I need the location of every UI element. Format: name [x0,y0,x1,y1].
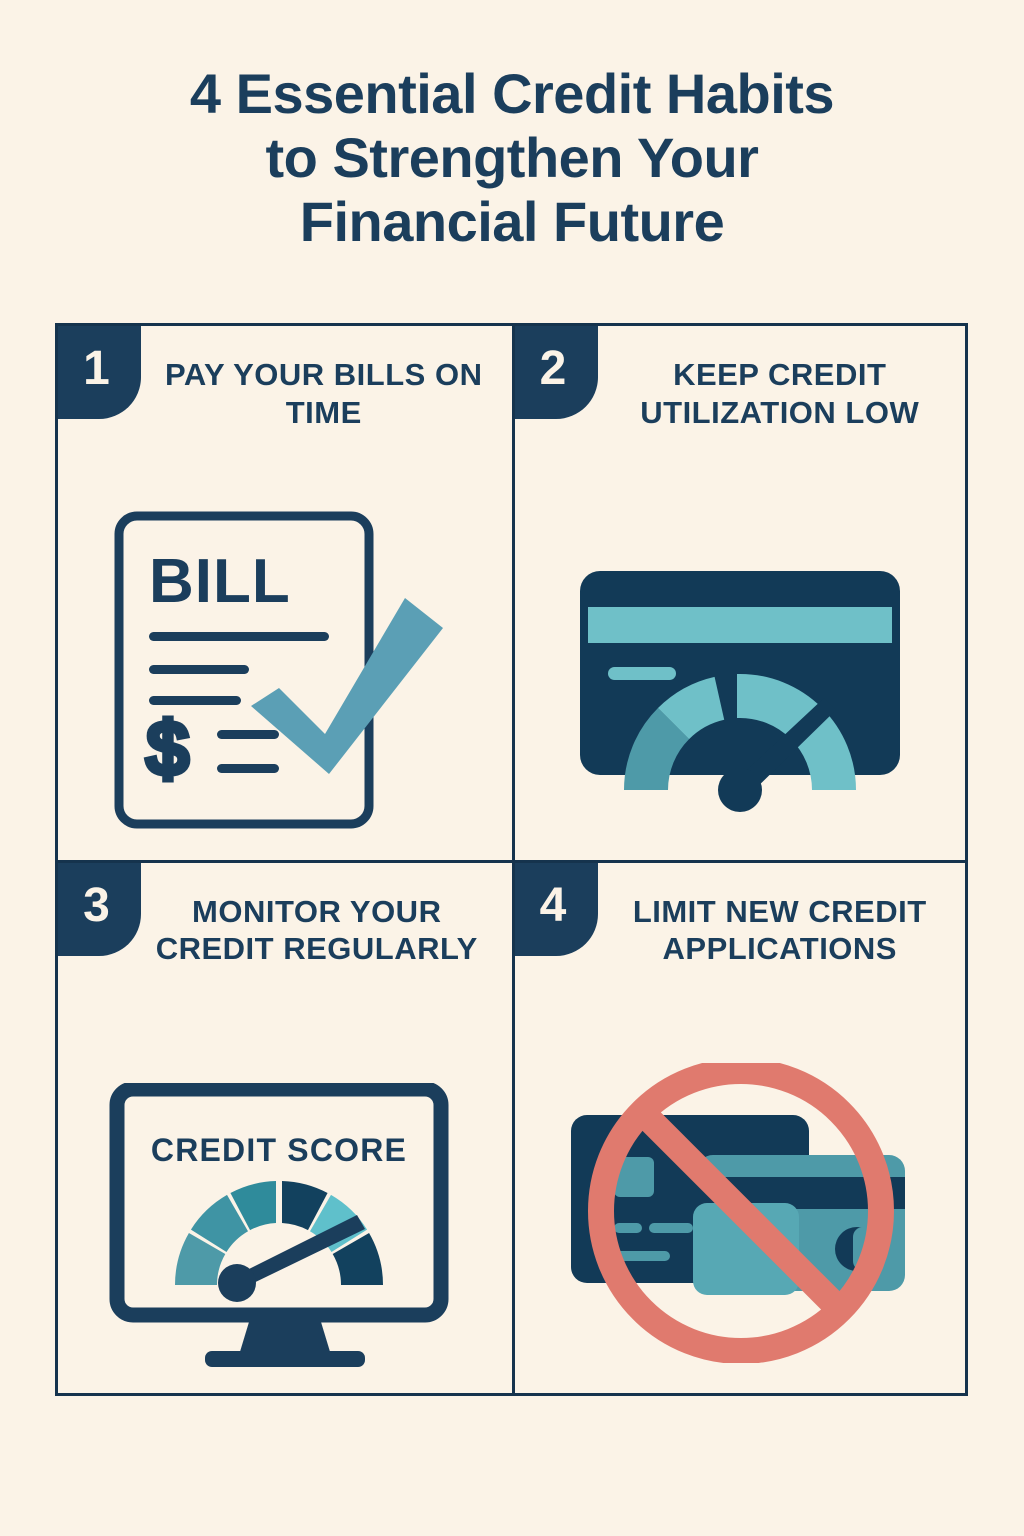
habits-grid: 1 PAY YOUR BILLS ON TIME BILL $ 2 [55,323,968,1396]
habit-number-badge-2: 2 [515,326,598,419]
habit-title-1: PAY YOUR BILLS ON TIME [150,356,498,432]
habit-number-badge-1: 1 [58,326,141,419]
page-title: 4 Essential Credit Habits to Strengthen … [0,62,1024,253]
page-title-line-3: Financial Future [70,190,954,254]
page-title-line-2: to Strengthen Your [70,126,954,190]
habit-number-badge-3: 3 [58,863,141,956]
habit-number-badge-4: 4 [515,863,598,956]
page-title-line-1: 4 Essential Credit Habits [70,62,954,126]
svg-text:CREDIT SCORE: CREDIT SCORE [151,1132,407,1168]
habit-title-2: KEEP CREDIT UTILIZATION LOW [615,356,946,432]
svg-text:BILL: BILL [149,547,291,616]
habit-card-4: 4 LIMIT NEW CREDIT APPLICATIONS [512,860,966,1394]
habit-card-3: 3 MONITOR YOUR CREDIT REGULARLY CREDIT S… [58,860,512,1394]
habit-title-3: MONITOR YOUR CREDIT REGULARLY [146,893,488,969]
habit-title-4: LIMIT NEW CREDIT APPLICATIONS [611,893,950,969]
habit-card-2: 2 KEEP CREDIT UTILIZATION LOW [512,326,966,860]
habit-card-1: 1 PAY YOUR BILLS ON TIME BILL $ [58,326,512,860]
svg-text:$: $ [147,707,188,790]
